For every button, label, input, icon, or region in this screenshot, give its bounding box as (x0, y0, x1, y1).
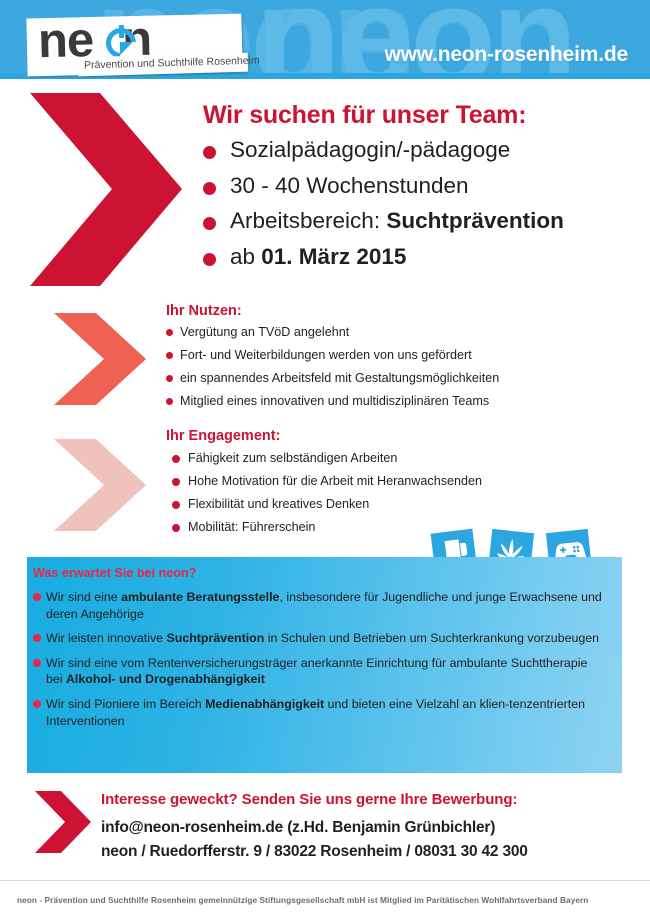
chevron-small-red (35, 791, 91, 853)
main-bullet-list: Sozialpädagogin/-pädagoge 30 - 40 Wochen… (203, 139, 633, 281)
list-item: Wir sind eine ambulante Beratungsstelle,… (33, 589, 603, 622)
list-item: Mobilität: Führerschein (172, 521, 612, 534)
list-item: Mitglied eines innovativen und multidisz… (166, 395, 606, 408)
list-item: Wir leisten innovative Suchtprävention i… (33, 630, 603, 647)
bullet-dot-icon (172, 524, 180, 532)
bullet-dot-icon (203, 217, 216, 230)
list-item: Vergütung an TVöD angelehnt (166, 326, 606, 339)
list-item-label: Fort- und Weiterbildungen werden von uns… (180, 348, 472, 362)
bullet-dot-icon (172, 455, 180, 463)
bullet-dot-icon (172, 478, 180, 486)
page-title: Wir suchen für unser Team: (203, 101, 526, 130)
bullet-text: Arbeitsbereich: (230, 208, 386, 233)
bullet-dot-icon (166, 352, 173, 359)
list-item-label: Flexibilität und kreatives Denken (188, 497, 369, 511)
list-item: Sozialpädagogin/-pädagoge (203, 139, 633, 162)
bullet-dot-icon (172, 501, 180, 509)
panel-text-pre: Wir sind eine (46, 590, 121, 604)
list-item: 30 - 40 Wochenstunden (203, 175, 633, 198)
list-item-label: Hohe Motivation für die Arbeit mit Heran… (188, 474, 482, 488)
bullet-dot-icon (33, 593, 41, 601)
bullet-dot-icon (166, 329, 173, 336)
list-item: ein spannendes Arbeitsfeld mit Gestaltun… (166, 372, 606, 385)
footer-legal-text: neon - Prävention und Suchthilfe Rosenhe… (17, 895, 588, 905)
panel-text-pre: Wir leisten innovative (46, 631, 167, 645)
list-item-label: Fähigkeit zum selbständigen Arbeiten (188, 451, 397, 465)
bullet-dot-icon (203, 146, 216, 159)
list-item: Wir sind Pioniere im Bereich Medienabhän… (33, 696, 603, 729)
bullet-dot-icon (33, 700, 41, 708)
list-item: Arbeitsbereich: Suchtprävention (203, 210, 633, 233)
panel-text-bold: Alkohol- und Drogenabhängigkeit (66, 672, 265, 686)
section-title-nutzen: Ihr Nutzen: (166, 303, 242, 319)
panel-title: Was erwartet Sie bei neon? (33, 566, 196, 580)
chevron-medium-coral (54, 313, 146, 405)
panel-text-bold: Medienabhängigkeit (205, 697, 324, 711)
bullet-text: Sozialpädagogin/-pädagoge (230, 137, 510, 162)
neon-power-o-arrow-icon (120, 42, 133, 55)
neon-power-o-stem (119, 25, 124, 38)
panel-text-pre: Wir sind Pioniere im Bereich (46, 697, 205, 711)
bullet-dot-icon (33, 659, 41, 667)
website-url[interactable]: www.neon-rosenheim.de (384, 43, 628, 67)
footer-divider (0, 880, 650, 881)
list-item-label: ein spannendes Arbeitsfeld mit Gestaltun… (180, 371, 499, 385)
list-item-label: Vergütung an TVöD angelehnt (180, 325, 349, 339)
panel-text-bold: ambulante Beratungsstelle (121, 590, 279, 604)
list-item-label: Mobilität: Führerschein (188, 520, 315, 534)
list-item: Fort- und Weiterbildungen werden von uns… (166, 349, 606, 362)
bullet-dot-icon (33, 634, 41, 642)
bullet-dot-icon (203, 253, 216, 266)
header-watermark: neon (255, 0, 573, 79)
list-item-label: Mitglied eines innovativen und multidisz… (180, 394, 489, 408)
contact-title: Interesse geweckt? Senden Sie uns gerne … (101, 791, 517, 808)
panel-text-bold: Suchtprävention (167, 631, 265, 645)
bullet-text: ab (230, 244, 261, 269)
contact-address: neon / Ruedorfferstr. 9 / 83022 Rosenhei… (101, 843, 528, 861)
bullet-dot-icon (166, 398, 173, 405)
bullet-text: 30 - 40 Wochenstunden (230, 173, 469, 198)
chevron-medium-pink (54, 439, 146, 531)
panel-list: Wir sind eine ambulante Beratungsstelle,… (33, 589, 603, 737)
bullet-dot-icon (166, 375, 173, 382)
bullet-text-bold: Suchtprävention (386, 208, 564, 233)
list-item: ab 01. März 2015 (203, 246, 633, 269)
contact-email[interactable]: info@neon-rosenheim.de (z.Hd. Benjamin G… (101, 819, 495, 837)
section-list-nutzen: Vergütung an TVöD angelehnt Fort- und We… (166, 326, 606, 418)
list-item: Fähigkeit zum selbständigen Arbeiten (172, 452, 612, 465)
list-item: Wir sind eine vom Rentenversicherungsträ… (33, 655, 603, 688)
bullet-dot-icon (203, 182, 216, 195)
section-title-engagement: Ihr Engagement: (166, 428, 280, 444)
list-item: Hohe Motivation für die Arbeit mit Heran… (172, 475, 612, 488)
chevron-large-red (30, 93, 182, 286)
panel-text-post: in Schulen und Betrieben um Suchterkrank… (264, 631, 599, 645)
section-list-engagement: Fähigkeit zum selbständigen Arbeiten Hoh… (172, 452, 612, 544)
bullet-text-bold: 01. März 2015 (261, 244, 406, 269)
list-item: Flexibilität und kreatives Denken (172, 498, 612, 511)
